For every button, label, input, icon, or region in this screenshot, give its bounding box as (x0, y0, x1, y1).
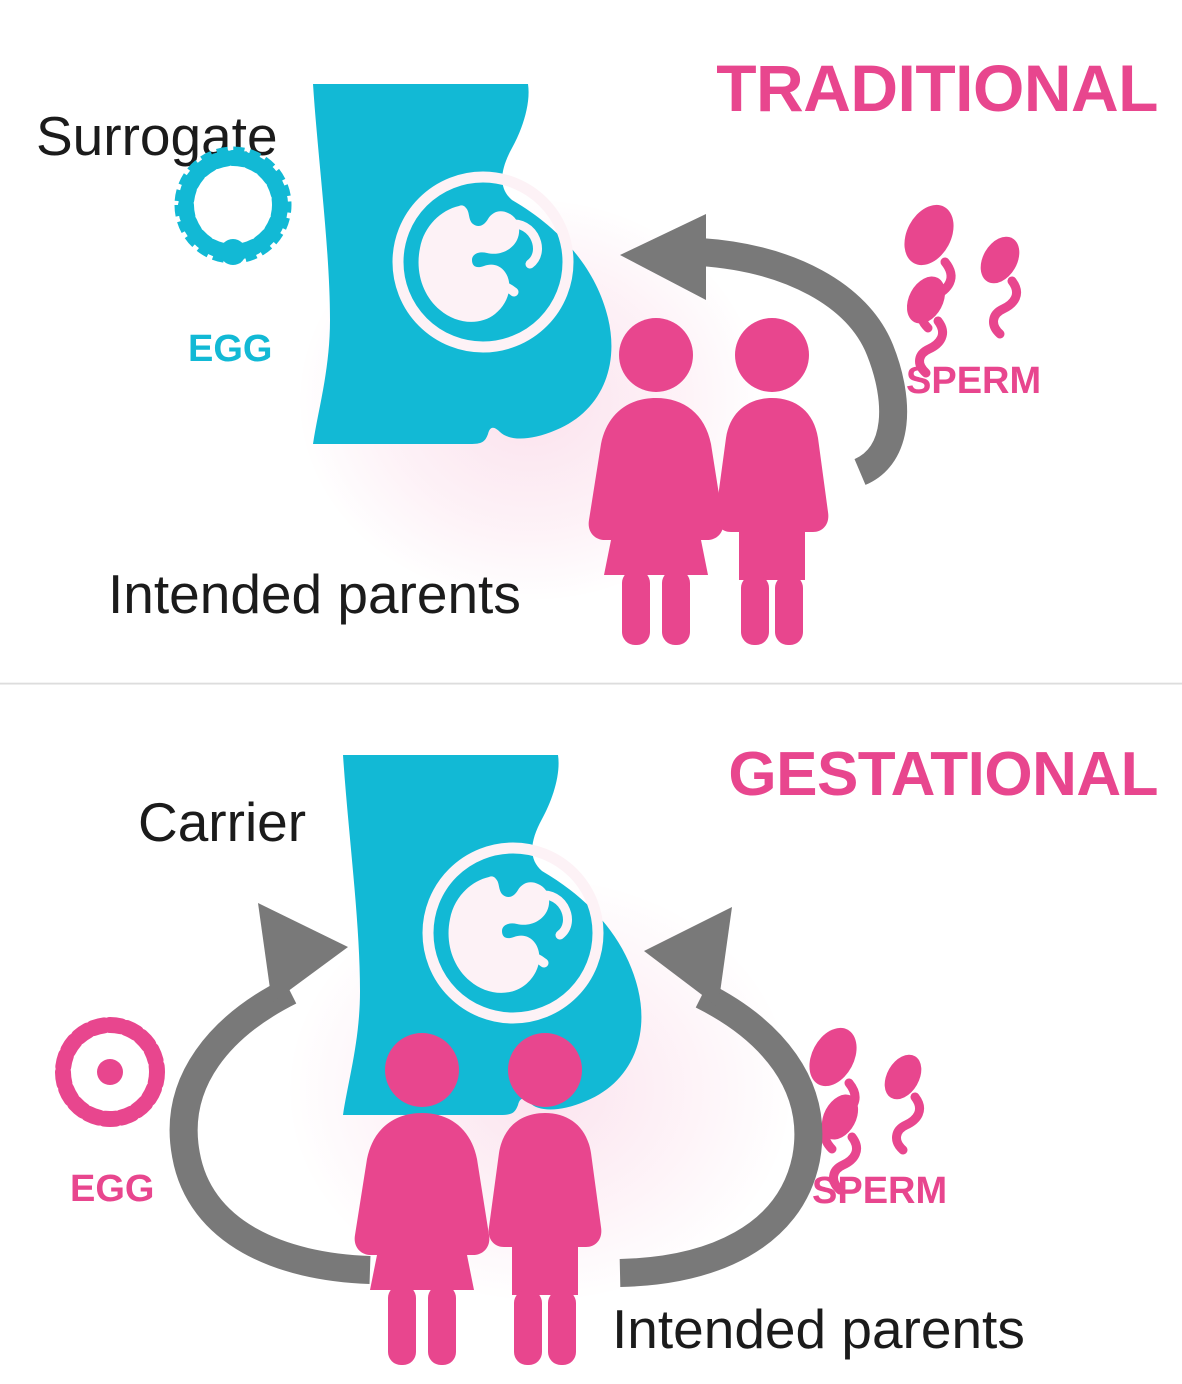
panel-traditional: TRADITIONAL Surrogate Intended parents E… (0, 0, 1182, 683)
gestational-illustration-stage (0, 685, 1182, 1384)
pregnant-belly-fetus-icon (313, 84, 611, 444)
egg-cell-icon (63, 1025, 157, 1119)
panel-gestational: GESTATIONAL Carrier Intended parents EGG… (0, 685, 1182, 1384)
egg-to-womb-arrow (184, 903, 370, 1270)
sperm-cells-icon (800, 1020, 929, 1190)
traditional-illustration-stage (0, 0, 1182, 683)
egg-cell-icon (183, 155, 283, 265)
sperm-cells-icon (895, 196, 1028, 373)
male-figure (716, 318, 829, 645)
surrogacy-infographic: TRADITIONAL Surrogate Intended parents E… (0, 0, 1182, 1384)
couple-pictogram (589, 318, 829, 645)
sperm-to-womb-arrow (620, 907, 808, 1273)
